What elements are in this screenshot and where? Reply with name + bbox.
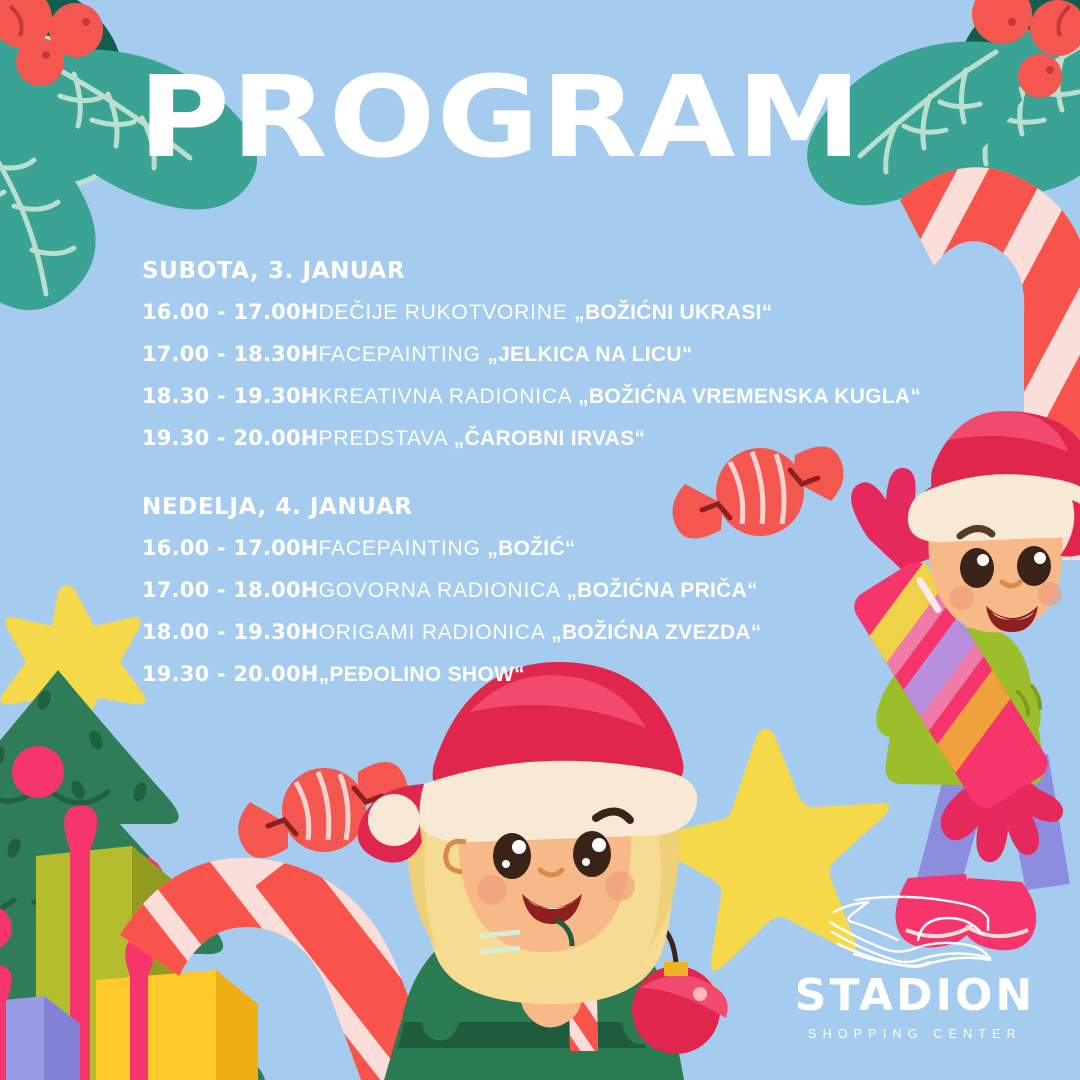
entry-time: 19.30 - 20.00H [142, 662, 319, 686]
program-poster: PROGRAM SUBOTA, 3. JANUAR 16.00 - 17.00H… [0, 0, 1080, 1080]
logo-wordmark: STADION [790, 974, 1040, 1018]
entry-description: PREDSTAVA „ČAROBNI IRVAS“ [319, 427, 646, 451]
entry-title: „BOŽIĆ“ [487, 537, 575, 560]
entry-title: „BOŽIĆNA PRIČA“ [566, 579, 758, 602]
entry-title: „BOŽIĆNI UKRASI“ [574, 301, 772, 324]
entry-time: 16.00 - 17.00H [142, 536, 319, 560]
schedule-row: 18.30 - 19.30H KREATIVNA RADIONICA „BOŽI… [142, 384, 992, 409]
entry-time: 18.30 - 19.30H [142, 384, 319, 408]
schedule-row: 19.30 - 20.00H PREDSTAVA „ČAROBNI IRVAS“ [142, 426, 992, 451]
entry-time: 19.30 - 20.00H [142, 426, 319, 450]
day-heading: SUBOTA, 3. JANUAR [142, 258, 992, 284]
entry-activity: DEČIJE RUKOTVORINE [319, 301, 575, 324]
entry-activity: ORIGAMI RADIONICA [319, 621, 552, 644]
logo-tagline: SHOPPING CENTER [790, 1027, 1040, 1041]
schedule-row: 17.00 - 18.00H GOVORNA RADIONICA „BOŽIĆN… [142, 578, 992, 603]
entry-title: „BOŽIĆNA ZVEZDA“ [551, 621, 762, 644]
entry-activity: KREATIVNA RADIONICA [319, 385, 579, 408]
entry-description: FACEPAINTING „BOŽIĆ“ [319, 537, 576, 561]
entry-description: „PEĐOLINO SHOW“ [319, 663, 525, 687]
page-title: PROGRAM [138, 62, 862, 174]
entry-time: 17.00 - 18.00H [142, 578, 319, 602]
schedule-list: SUBOTA, 3. JANUAR 16.00 - 17.00H DEČIJE … [142, 258, 992, 704]
schedule-row: 19.30 - 20.00H „PEĐOLINO SHOW“ [142, 662, 992, 687]
entry-title: „ČAROBNI IRVAS“ [454, 427, 646, 450]
schedule-day: SUBOTA, 3. JANUAR 16.00 - 17.00H DEČIJE … [142, 258, 992, 451]
schedule-row: 16.00 - 17.00H DEČIJE RUKOTVORINE „BOŽIĆ… [142, 300, 992, 325]
entry-title: „JELKICA NA LICU“ [487, 343, 692, 366]
entry-title: „PEĐOLINO SHOW“ [319, 663, 525, 686]
entry-activity: FACEPAINTING [319, 343, 488, 366]
entry-description: ORIGAMI RADIONICA „BOŽIĆNA ZVEZDA“ [319, 621, 762, 645]
entry-description: FACEPAINTING „JELKICA NA LICU“ [319, 343, 693, 367]
schedule-row: 16.00 - 17.00H FACEPAINTING „BOŽIĆ“ [142, 536, 992, 561]
entry-activity: PREDSTAVA [319, 427, 454, 450]
entry-activity: GOVORNA RADIONICA [319, 579, 567, 602]
day-heading: NEDELJA, 4. JANUAR [142, 494, 992, 520]
entry-description: KREATIVNA RADIONICA „BOŽIĆNA VREMENSKA K… [319, 385, 922, 409]
entry-title: „BOŽIĆNA VREMENSKA KUGLA“ [578, 385, 921, 408]
entry-time: 16.00 - 17.00H [142, 300, 319, 324]
day-separator [142, 468, 992, 494]
schedule-row: 18.00 - 19.30H ORIGAMI RADIONICA „BOŽIĆN… [142, 620, 992, 645]
entry-activity: FACEPAINTING [319, 537, 488, 560]
entry-time: 17.00 - 18.30H [142, 342, 319, 366]
entry-description: GOVORNA RADIONICA „BOŽIĆNA PRIČA“ [319, 579, 758, 603]
stadion-logo: STADION SHOPPING CENTER [790, 890, 1040, 1041]
schedule-row: 17.00 - 18.30H FACEPAINTING „JELKICA NA … [142, 342, 992, 367]
schedule-day: NEDELJA, 4. JANUAR 16.00 - 17.00H FACEPA… [142, 494, 992, 687]
entry-time: 18.00 - 19.30H [142, 620, 319, 644]
entry-description: DEČIJE RUKOTVORINE „BOŽIĆNI UKRASI“ [319, 301, 773, 325]
stadion-logo-mark [810, 890, 1020, 968]
